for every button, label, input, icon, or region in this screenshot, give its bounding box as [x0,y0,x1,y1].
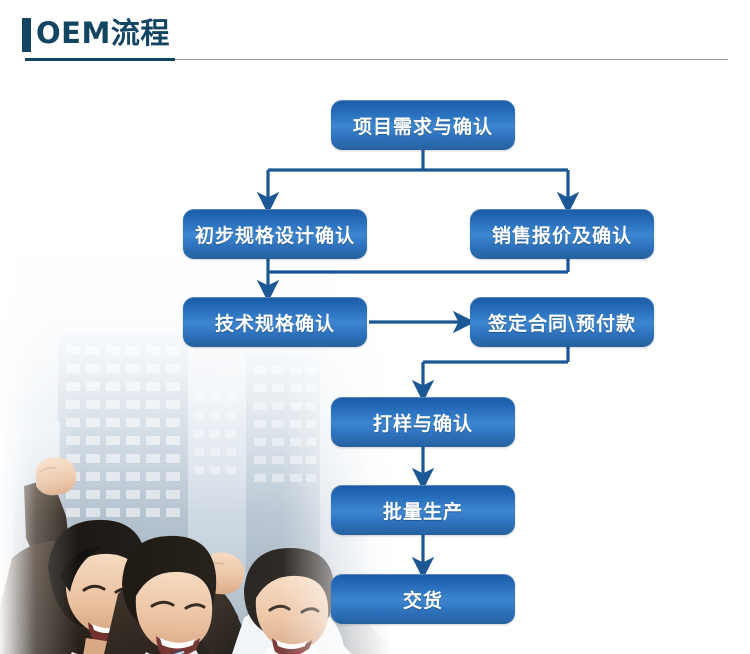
flow-node-project-requirement[interactable]: 项目需求与确认 [331,100,515,150]
flow-node-label: 项目需求与确认 [353,112,493,139]
flow-node-label: 批量生产 [383,497,463,524]
flow-node-label: 销售报价及确认 [492,221,632,248]
flow-node-preliminary-spec[interactable]: 初步规格设计确认 [183,209,367,259]
flow-node-sampling-confirm[interactable]: 打样与确认 [331,397,515,447]
flow-node-technical-spec[interactable]: 技术规格确认 [183,297,367,347]
oem-process-page: OEM流程 [0,0,750,654]
flow-node-label: 初步规格设计确认 [195,221,355,248]
flow-node-label: 打样与确认 [373,409,473,436]
flow-node-sales-quotation[interactable]: 销售报价及确认 [470,209,654,259]
flow-node-delivery[interactable]: 交货 [331,574,515,624]
flow-node-contract-deposit[interactable]: 签定合同\预付款 [470,297,654,347]
flow-node-mass-production[interactable]: 批量生产 [331,485,515,535]
flow-node-label: 交货 [403,586,443,613]
flow-node-label: 签定合同\预付款 [488,309,636,336]
oem-flowchart: 项目需求与确认 初步规格设计确认 销售报价及确认 技术规格确认 签定合同\预付款… [0,0,750,654]
flow-node-label: 技术规格确认 [215,309,335,336]
